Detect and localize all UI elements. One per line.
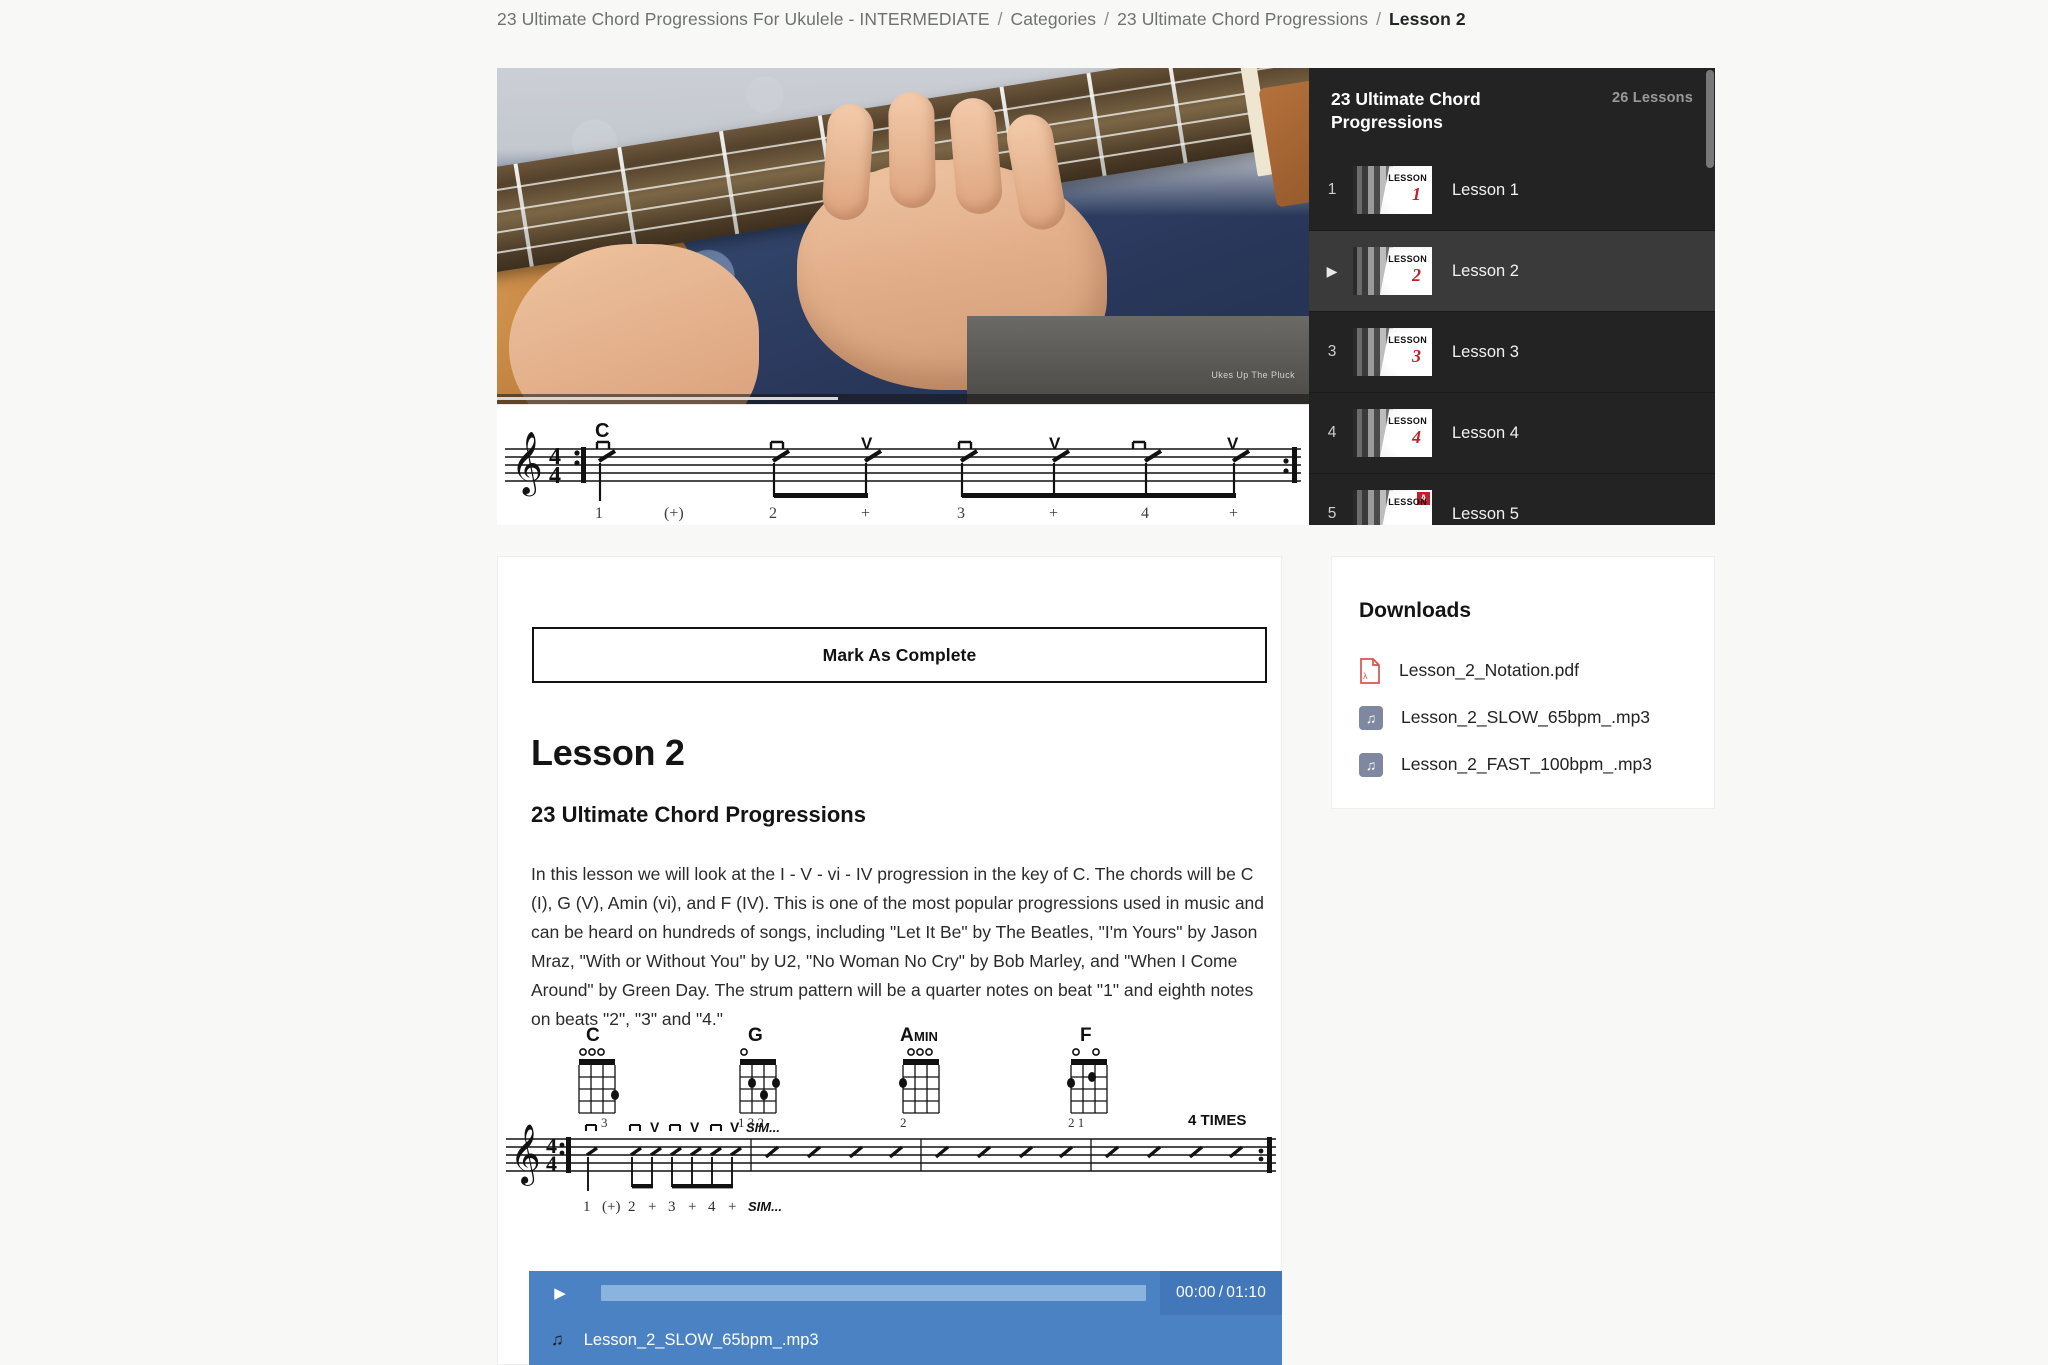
svg-text:4: 4: [708, 1199, 716, 1215]
svg-text:3: 3: [668, 1199, 676, 1215]
amplifier: [967, 316, 1309, 404]
download-file-name: Lesson_2_SLOW_65bpm_.mp3: [1401, 707, 1650, 728]
audio-file-row: ♫ Lesson_2_SLOW_65bpm_.mp3: [529, 1315, 1282, 1365]
playlist-item-lesson-4[interactable]: 4 LESSON 4 Lesson 4: [1309, 393, 1715, 474]
video-player[interactable]: Ukes Up The Pluck: [497, 68, 1309, 404]
svg-text:+: +: [861, 505, 870, 522]
svg-text:3: 3: [957, 505, 965, 522]
playlist-item-thumbnail: LESSON 4: [1353, 409, 1432, 457]
svg-text:(+): (+): [602, 1199, 620, 1215]
svg-text:+: +: [648, 1199, 656, 1215]
play-triangle-icon[interactable]: ▶: [529, 1271, 591, 1315]
breadcrumb-separator: /: [1373, 9, 1384, 29]
download-item-pdf[interactable]: λ Lesson_2_Notation.pdf: [1359, 647, 1699, 694]
svg-text:𝄞: 𝄞: [511, 431, 543, 497]
music-note-icon: ♫: [1359, 753, 1383, 777]
playlist-item-lesson-5[interactable]: 5 A LESSON Lesson 5: [1309, 474, 1715, 525]
playlist-item-index: 3: [1319, 343, 1345, 361]
play-triangle-icon: ▶: [1319, 263, 1345, 280]
svg-text:λ: λ: [1363, 671, 1368, 681]
music-note-icon: ♫: [1359, 706, 1383, 730]
playlist-item-label: Lesson 5: [1452, 505, 1519, 524]
playlist-item-lesson-1[interactable]: 1 LESSON 1 Lesson 1: [1309, 150, 1715, 231]
chord-chart-svg: C 3 G: [498, 1019, 1283, 1219]
svg-text:C: C: [595, 420, 609, 442]
music-note-icon: ♫: [551, 1330, 564, 1350]
pdf-file-icon: λ: [1359, 658, 1381, 684]
downloads-title: Downloads: [1359, 599, 1471, 623]
playlist-title: 23 Ultimate Chord Progressions: [1331, 88, 1541, 134]
mark-as-complete-button[interactable]: Mark As Complete: [532, 627, 1267, 683]
download-item-mp3-fast[interactable]: ♫ Lesson_2_FAST_100bpm_.mp3: [1359, 741, 1699, 788]
svg-text:V: V: [1227, 434, 1239, 453]
playlist-item-thumbnail: LESSON 3: [1353, 328, 1432, 376]
audio-progress-bar[interactable]: [601, 1285, 1146, 1301]
lesson-description: In this lesson we will look at the I - V…: [531, 860, 1273, 1034]
thumbnail-lesson-word: LESSON: [1388, 254, 1427, 264]
chord-diagram-G: G 1 3 2: [738, 1025, 780, 1130]
svg-text:F: F: [1080, 1025, 1092, 1046]
audio-player[interactable]: ▶ 00:00 / 01:10 ♫ Lesson_2_SLOW_65bpm_.m…: [529, 1271, 1282, 1365]
page-title: Lesson 2: [531, 732, 685, 774]
video-column: Ukes Up The Pluck 𝄞 4 4: [497, 68, 1309, 525]
playlist-item-index: 5: [1319, 505, 1345, 523]
svg-text:2: 2: [769, 505, 777, 522]
svg-text:4: 4: [549, 463, 561, 489]
playlist-item-index: 1: [1319, 181, 1345, 199]
audio-file-name: Lesson_2_SLOW_65bpm_.mp3: [584, 1331, 819, 1350]
playlist-item-index: 4: [1319, 424, 1345, 442]
thumbnail-lesson-word: LESSON: [1388, 497, 1427, 507]
thumbnail-lesson-word: LESSON: [1388, 173, 1427, 183]
playlist-item-thumbnail: LESSON 2: [1353, 247, 1432, 295]
download-item-mp3-slow[interactable]: ♫ Lesson_2_SLOW_65bpm_.mp3: [1359, 694, 1699, 741]
svg-text:𝄞: 𝄞: [510, 1124, 541, 1186]
breadcrumb-separator: /: [995, 9, 1006, 29]
thumbnail-lesson-number: 1: [1412, 184, 1421, 205]
strum-notation-svg: 𝄞 4 4 C: [497, 405, 1309, 525]
audio-controls-row: ▶ 00:00 / 01:10: [529, 1271, 1282, 1315]
audio-time-display: 00:00 / 01:10: [1160, 1271, 1282, 1315]
thumbnail-lesson-number: 4: [1412, 427, 1421, 448]
chord-diagram-F: F 2 1: [1067, 1025, 1107, 1130]
playlist-item-thumbnail: LESSON 1: [1353, 166, 1432, 214]
lesson-content-card: Mark As Complete Lesson 2 23 Ultimate Ch…: [497, 556, 1282, 1365]
svg-text:3: 3: [601, 1115, 608, 1130]
chord-diagram-Amin: A MIN 2: [899, 1025, 939, 1130]
svg-text:A: A: [900, 1025, 914, 1046]
svg-text:4: 4: [1141, 505, 1149, 522]
thumbnail-lesson-number: 3: [1412, 346, 1421, 367]
playlist-item-label: Lesson 1: [1452, 181, 1519, 200]
video-watermark: Ukes Up The Pluck: [1211, 370, 1295, 380]
svg-text:4: 4: [546, 1151, 557, 1176]
breadcrumb-item-categories[interactable]: Categories: [1011, 9, 1097, 29]
svg-text:V: V: [730, 1119, 740, 1135]
download-file-name: Lesson_2_FAST_100bpm_.mp3: [1401, 754, 1652, 775]
breadcrumb-current: Lesson 2: [1389, 9, 1466, 29]
playlist-item-thumbnail: A LESSON: [1353, 490, 1432, 525]
playlist-item-lesson-3[interactable]: 3 LESSON 3 Lesson 3: [1309, 312, 1715, 393]
svg-text:1: 1: [595, 505, 603, 522]
thumbnail-lesson-word: LESSON: [1388, 416, 1427, 426]
svg-text:V: V: [861, 434, 873, 453]
svg-text:2: 2: [628, 1199, 636, 1215]
downloads-card: Downloads λ Lesson_2_Notation.pdf ♫ Less…: [1331, 556, 1715, 809]
thumbnail-lesson-word: LESSON: [1388, 335, 1427, 345]
svg-text:2: 2: [900, 1115, 907, 1130]
breadcrumb-separator: /: [1101, 9, 1112, 29]
chord-chart-notation: C 3 G: [498, 1019, 1283, 1219]
audio-progress-wrap[interactable]: [591, 1271, 1160, 1315]
svg-text:V: V: [690, 1119, 700, 1135]
playlist-lesson-count: 26 Lessons: [1612, 88, 1693, 106]
thumbnail-lesson-number: 2: [1412, 265, 1421, 286]
svg-text:G: G: [748, 1025, 763, 1046]
download-file-name: Lesson_2_Notation.pdf: [1399, 660, 1579, 681]
svg-text:+: +: [1049, 505, 1058, 522]
svg-text:(+): (+): [664, 505, 684, 522]
svg-text:C: C: [586, 1025, 600, 1046]
svg-text:MIN: MIN: [914, 1029, 938, 1044]
chord-diagram-C: C 3: [579, 1025, 619, 1130]
playlist-item-label: Lesson 3: [1452, 343, 1519, 362]
video-notation-overlay: 𝄞 4 4 C: [497, 404, 1309, 525]
breadcrumb: 23 Ultimate Chord Progressions For Ukule…: [497, 9, 1466, 30]
svg-text:+: +: [728, 1199, 736, 1215]
playlist-header: 23 Ultimate Chord Progressions 26 Lesson…: [1309, 68, 1715, 150]
playlist-scrollbar[interactable]: [1706, 70, 1714, 168]
media-row: Ukes Up The Pluck 𝄞 4 4: [497, 68, 1715, 525]
playlist-item-label: Lesson 2: [1452, 262, 1519, 281]
svg-text:SIM...: SIM...: [748, 1199, 782, 1214]
playlist-items: 1 LESSON 1 Lesson 1 ▶ LESSON 2 Le: [1309, 150, 1715, 525]
playlist-item-lesson-2[interactable]: ▶ LESSON 2 Lesson 2: [1309, 231, 1715, 312]
svg-text:V: V: [1049, 434, 1061, 453]
breadcrumb-item-progressions[interactable]: 23 Ultimate Chord Progressions: [1117, 9, 1368, 29]
video-controls-bar[interactable]: [497, 394, 1309, 404]
svg-text:+: +: [688, 1199, 696, 1215]
svg-text:+: +: [1229, 505, 1238, 522]
audio-current-time: 00:00: [1176, 1284, 1216, 1302]
svg-text:1: 1: [583, 1199, 591, 1215]
lesson-subtitle: 23 Ultimate Chord Progressions: [531, 802, 866, 828]
breadcrumb-item-course[interactable]: 23 Ultimate Chord Progressions For Ukule…: [497, 9, 990, 29]
downloads-list: λ Lesson_2_Notation.pdf ♫ Lesson_2_SLOW_…: [1359, 647, 1699, 788]
svg-text:V: V: [650, 1119, 660, 1135]
audio-time-separator: /: [1216, 1284, 1227, 1302]
svg-text:2 1: 2 1: [1068, 1115, 1084, 1130]
audio-duration: 01:10: [1226, 1284, 1266, 1302]
svg-text:4 TIMES: 4 TIMES: [1188, 1112, 1246, 1129]
svg-text:SIM...: SIM...: [746, 1120, 780, 1135]
lesson-playlist[interactable]: 23 Ultimate Chord Progressions 26 Lesson…: [1309, 68, 1715, 525]
playlist-item-label: Lesson 4: [1452, 424, 1519, 443]
